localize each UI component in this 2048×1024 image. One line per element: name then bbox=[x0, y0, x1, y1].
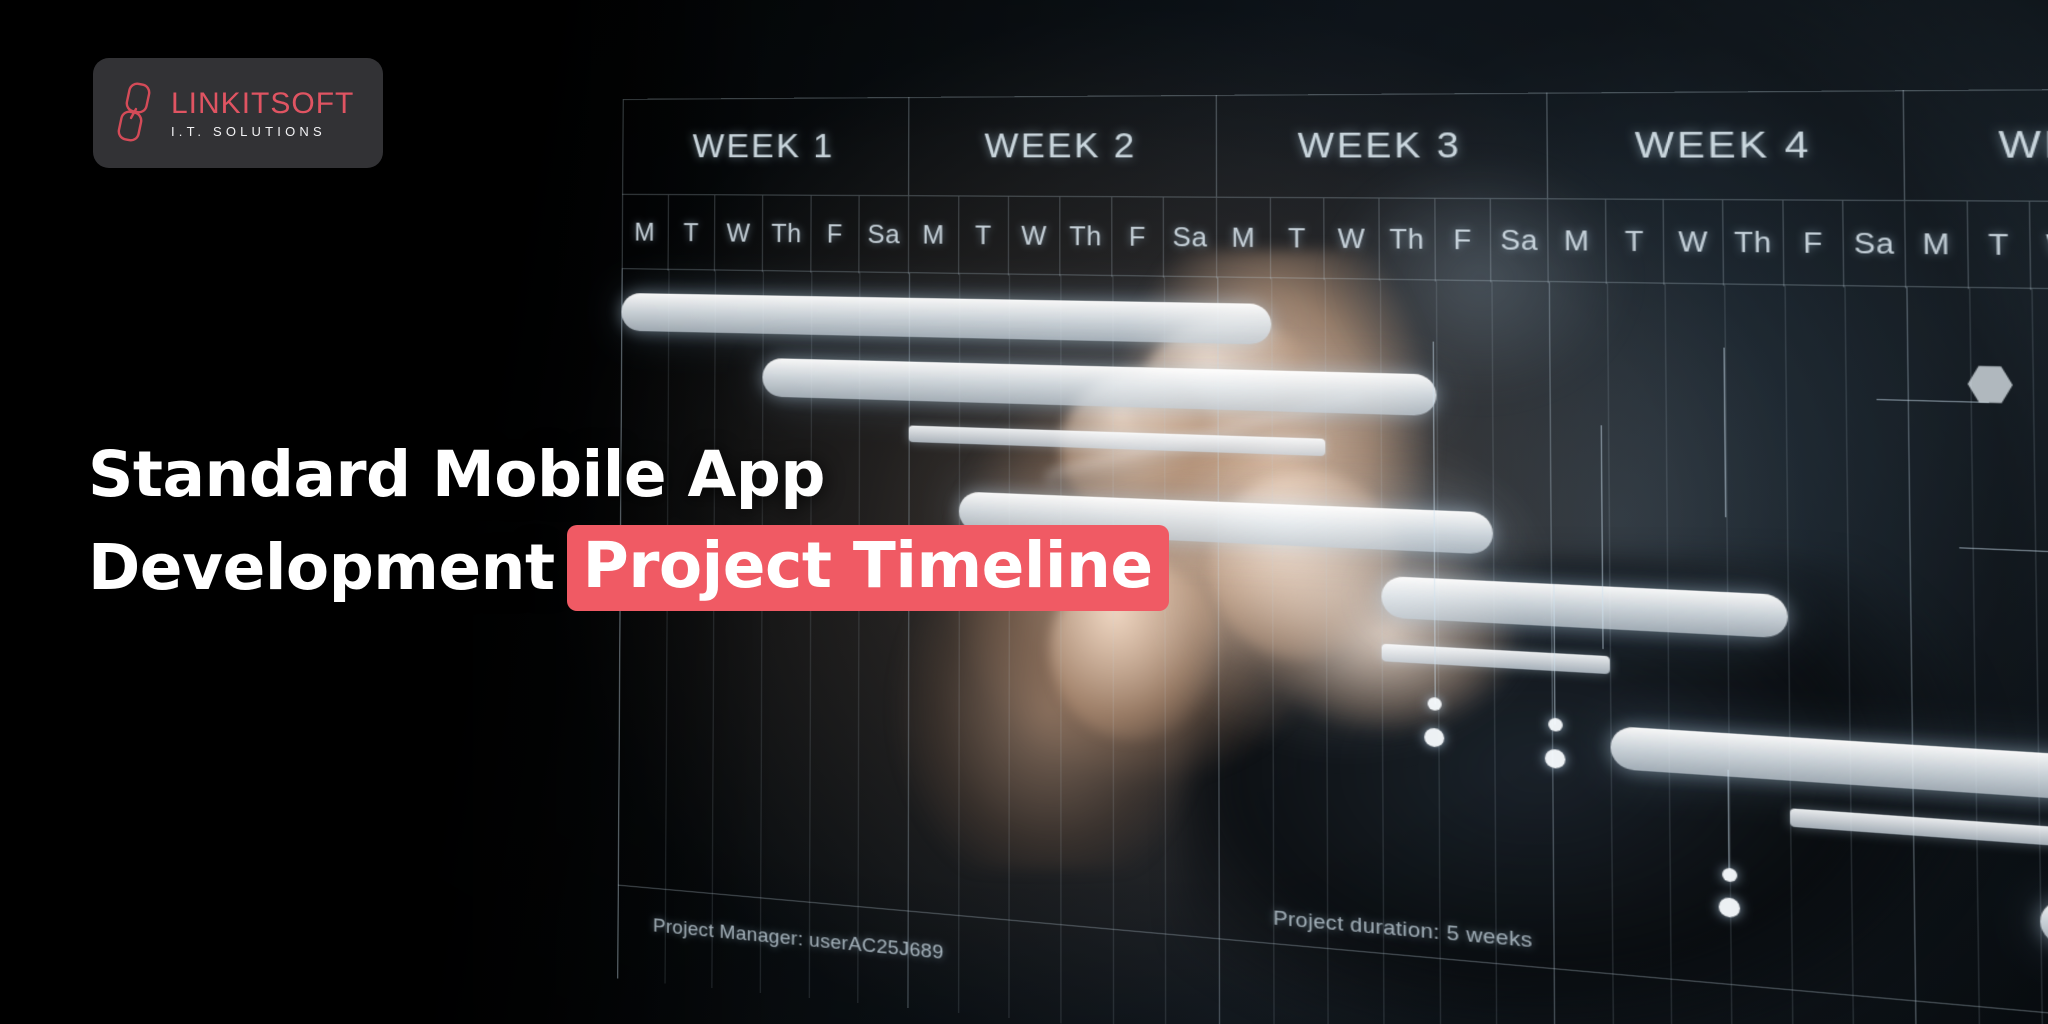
chain-link-icon bbox=[115, 82, 157, 144]
day-header-cell: Sa bbox=[1844, 201, 1906, 288]
milestone-dot bbox=[1428, 697, 1442, 711]
day-label: T bbox=[1988, 229, 2009, 263]
day-header-cell: F bbox=[1435, 199, 1492, 283]
day-label: M bbox=[922, 220, 944, 250]
week-label: WEEK 3 bbox=[1297, 124, 1461, 167]
grid-line bbox=[1784, 285, 1794, 1024]
day-header-cell: F bbox=[811, 196, 860, 274]
headline-line-2: Development Project Timeline bbox=[88, 525, 1169, 612]
day-label: M bbox=[1231, 223, 1255, 254]
day-header-cell: Th bbox=[1060, 197, 1112, 277]
milestone-dot bbox=[1424, 728, 1444, 748]
day-label: Sa bbox=[868, 220, 901, 250]
day-header-cell: F bbox=[1783, 200, 1845, 287]
day-header-cell: M bbox=[909, 196, 959, 275]
day-label: W bbox=[1338, 224, 1366, 256]
week-label: WEEK 5 bbox=[1998, 122, 2048, 168]
brand-tagline: I.T. SOLUTIONS bbox=[171, 125, 354, 138]
week-header-row: WEEK 1WEEK 2WEEK 3WEEK 4WEEK 5 bbox=[622, 88, 2048, 202]
day-header-cell: Sa bbox=[1164, 197, 1217, 278]
day-label: F bbox=[1129, 222, 1146, 253]
day-header-cell: W bbox=[1009, 197, 1060, 277]
day-label: W bbox=[727, 219, 751, 248]
day-header-cell: Th bbox=[763, 196, 811, 273]
day-header-cell: Th bbox=[1723, 200, 1784, 286]
day-label: F bbox=[1453, 225, 1472, 257]
day-label: T bbox=[683, 219, 699, 248]
day-label: Sa bbox=[1854, 228, 1895, 262]
day-header-cell: T bbox=[1967, 201, 2031, 290]
day-label: M bbox=[634, 218, 655, 247]
day-header-cell: W bbox=[1325, 198, 1380, 281]
day-label: Th bbox=[771, 219, 802, 249]
week-header-cell: WEEK 5 bbox=[1904, 88, 2048, 202]
day-label: T bbox=[1625, 226, 1645, 258]
grid-line bbox=[664, 270, 669, 984]
week-header-cell: WEEK 3 bbox=[1217, 93, 1548, 199]
day-label: Sa bbox=[1173, 222, 1208, 253]
day-label: T bbox=[975, 221, 992, 251]
day-label: Sa bbox=[1500, 225, 1538, 257]
day-header-cell: M bbox=[622, 195, 669, 271]
brand-logo[interactable]: LINKITSOFT I.T. SOLUTIONS bbox=[93, 58, 383, 168]
day-label: Th bbox=[1734, 227, 1772, 260]
day-label: Th bbox=[1389, 224, 1424, 256]
headline-text-primary: Standard Mobile App bbox=[88, 440, 825, 511]
day-header-cell: W bbox=[715, 195, 763, 272]
day-label: W bbox=[1021, 221, 1047, 251]
day-header-cell: W bbox=[1664, 200, 1724, 286]
brand-name: LINKITSOFT bbox=[171, 89, 354, 119]
headline-line-1: Standard Mobile App bbox=[88, 440, 1169, 511]
week-header-cell: WEEK 4 bbox=[1547, 90, 1905, 200]
milestone-dot bbox=[1722, 868, 1737, 883]
day-label: W bbox=[1678, 226, 1708, 259]
hero-banner: WEEK 1WEEK 2WEEK 3WEEK 4WEEK 5 MTWThFSaM… bbox=[0, 0, 2048, 1024]
day-header-cell: T bbox=[959, 196, 1009, 275]
day-header-cell: M bbox=[1217, 198, 1271, 280]
day-header-cell: W bbox=[2031, 202, 2048, 291]
day-label: T bbox=[1288, 223, 1306, 254]
day-header-cell: F bbox=[1112, 197, 1164, 278]
day-header-cell: Sa bbox=[1491, 199, 1548, 283]
headline-highlight-badge: Project Timeline bbox=[567, 525, 1169, 612]
grid-line bbox=[1906, 287, 1917, 1024]
week-header-cell: WEEK 1 bbox=[622, 97, 909, 195]
grid-line bbox=[1665, 284, 1673, 1024]
day-header-cell: T bbox=[668, 195, 715, 271]
headline-text-secondary: Development bbox=[88, 533, 555, 604]
day-header-cell: T bbox=[1271, 198, 1325, 280]
day-label: M bbox=[1564, 225, 1590, 257]
week-header-cell: WEEK 2 bbox=[909, 95, 1217, 197]
grid-line bbox=[712, 270, 717, 988]
day-label: Th bbox=[1069, 222, 1102, 253]
week-label: WEEK 2 bbox=[984, 125, 1136, 166]
day-header-cell: M bbox=[1905, 201, 1968, 289]
day-label: F bbox=[1803, 227, 1823, 260]
grid-line bbox=[1606, 283, 1614, 1024]
day-header-cell: Sa bbox=[860, 196, 909, 274]
week-label: WEEK 4 bbox=[1634, 123, 1811, 167]
day-header-cell: T bbox=[1606, 200, 1665, 285]
day-header-cell: Th bbox=[1380, 199, 1436, 282]
day-label: M bbox=[1922, 228, 1950, 262]
week-label: WEEK 1 bbox=[692, 126, 834, 166]
day-label: F bbox=[827, 220, 843, 250]
day-header-cell: M bbox=[1548, 199, 1606, 284]
grid-line bbox=[1845, 286, 1856, 1024]
milestone-dot bbox=[1548, 718, 1563, 732]
headline-block: Standard Mobile App Development Project … bbox=[88, 440, 1169, 611]
